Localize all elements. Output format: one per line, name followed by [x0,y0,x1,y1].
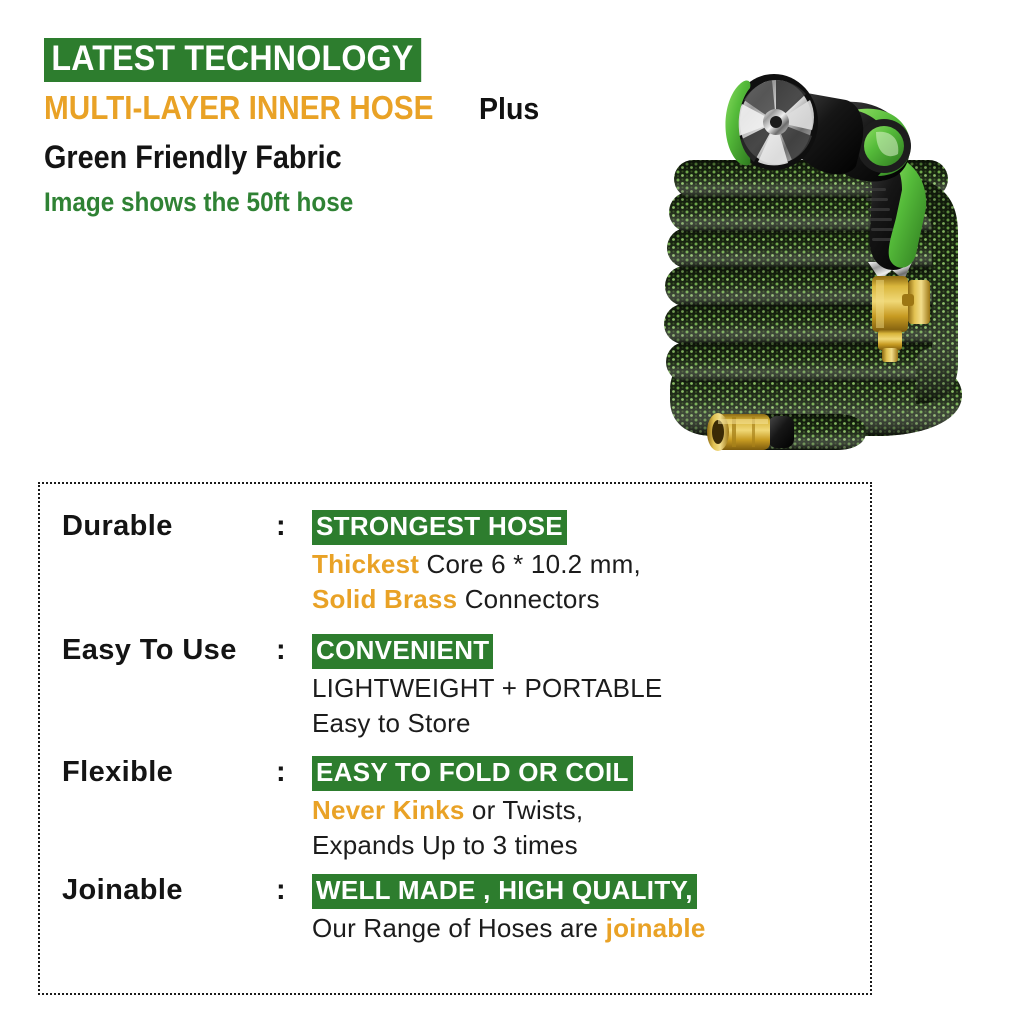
spec-text-or-twists: or Twists, [465,795,584,825]
spec-text-our-range: Our Range of Hoses are [312,913,606,943]
spec-colon-joinable: : [276,874,286,907]
headline-line-2: MULTI-LAYER INNER HOSEPlus [44,82,604,127]
product-feature-graphic: LATEST TECHNOLOGY MULTI-LAYER INNER HOSE… [0,0,1024,1024]
spec-colon-flexible: : [276,756,286,789]
headline-line-4: Image shows the 50ft hose [44,173,604,216]
spec-highlight-durable: STRONGEST HOSE [312,510,567,545]
spec-text-expands-3-times: Expands Up to 3 times [312,830,578,860]
spec-accent-thickest: Thickest [312,549,419,579]
spec-text-core-size: Core 6 * 10.2 mm, [419,549,641,579]
spec-values-durable: STRONGEST HOSE Thickest Core 6 * 10.2 mm… [312,510,852,616]
spec-label-joinable: Joinable [62,874,183,907]
headline-block: LATEST TECHNOLOGY MULTI-LAYER INNER HOSE… [44,38,604,216]
spec-highlight-well-made: WELL MADE , HIGH QUALITY, [312,874,697,909]
plus-text: Plus [479,91,539,127]
spec-highlight-line: EASY TO FOLD OR COIL [312,756,852,791]
spec-accent-joinable: joinable [606,913,706,943]
green-friendly-fabric-text: Green Friendly Fabric [44,141,342,173]
spec-highlight-convenient: CONVENIENT [312,634,493,669]
spec-colon-easy-to-use: : [276,634,286,667]
spec-detail-line: Our Range of Hoses are joinable [312,913,852,944]
spec-accent-solid-brass: Solid Brass [312,584,457,614]
spec-values-flexible: EASY TO FOLD OR COIL Never Kinks or Twis… [312,756,852,862]
spec-detail-line: Easy to Store [312,708,852,739]
spec-label-flexible: Flexible [62,756,173,789]
spec-values-easy-to-use: CONVENIENT LIGHTWEIGHT + PORTABLE Easy t… [312,634,852,740]
spec-detail-line: Thickest Core 6 * 10.2 mm, [312,549,852,580]
spec-highlight-line: STRONGEST HOSE [312,510,852,545]
multi-layer-inner-hose-text: MULTI-LAYER INNER HOSE [44,91,433,124]
headline-line-3: Green Friendly Fabric [44,127,604,173]
spec-detail-line: Expands Up to 3 times [312,830,852,861]
image-shows-note: Image shows the 50ft hose [44,189,353,216]
headline-line-1: LATEST TECHNOLOGY [44,38,604,82]
brass-connector [707,413,770,451]
spec-colon-durable: : [276,510,286,543]
spec-text-easy-to-store: Easy to Store [312,708,471,738]
product-photo-hose-assembly [640,18,1024,480]
latest-technology-banner: LATEST TECHNOLOGY [44,38,421,82]
spec-label-durable: Durable [62,510,173,543]
spec-highlight-easy-to-fold: EASY TO FOLD OR COIL [312,756,633,791]
spec-detail-line: Never Kinks or Twists, [312,795,852,826]
spec-values-joinable: WELL MADE , HIGH QUALITY, Our Range of H… [312,874,852,944]
spec-highlight-line: CONVENIENT [312,634,852,669]
spec-label-easy-to-use: Easy To Use [62,634,237,667]
specification-box: Durable : STRONGEST HOSE Thickest Core 6… [38,482,872,995]
spec-detail-line: Solid Brass Connectors [312,584,852,615]
spec-highlight-line: WELL MADE , HIGH QUALITY, [312,874,852,909]
spec-detail-line: LIGHTWEIGHT + PORTABLE [312,673,852,704]
spec-accent-never-kinks: Never Kinks [312,795,465,825]
spec-text-lightweight-portable: LIGHTWEIGHT + PORTABLE [312,673,662,703]
spec-text-connectors: Connectors [457,584,599,614]
